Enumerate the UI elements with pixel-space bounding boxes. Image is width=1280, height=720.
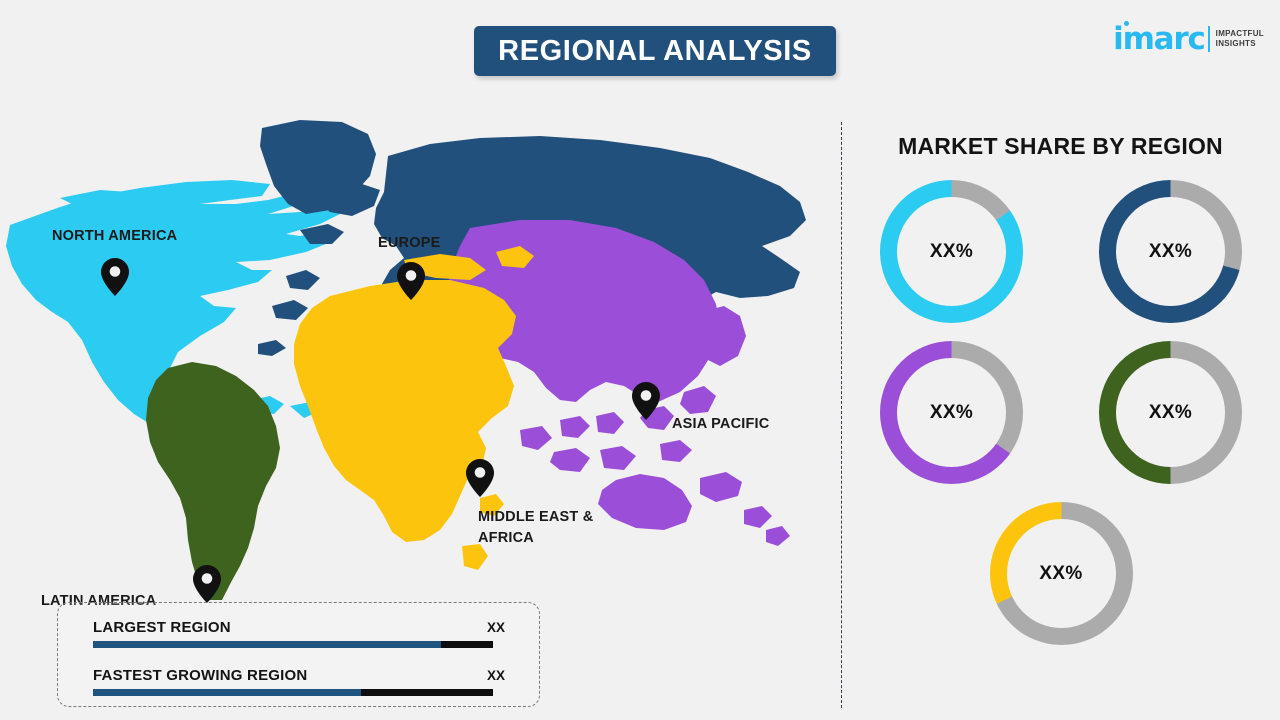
map-pin-europe-icon[interactable] [397, 262, 425, 300]
donut-center: XX% [1007, 519, 1116, 628]
donut-chart-grid: XX% XX% XX% XX% [860, 180, 1262, 645]
legend-value: XX [487, 668, 505, 683]
donut-chart-latin-america[interactable]: XX% [1099, 341, 1242, 484]
donut-center: XX% [897, 197, 1006, 306]
map-label-asia-pacific: ASIA PACIFIC [672, 414, 769, 435]
legend-row-fastest-growing-region: FASTEST GROWING REGION XX [93, 667, 505, 696]
donut-value-label: XX% [930, 241, 973, 263]
region-summary-box: LARGEST REGION XX FASTEST GROWING REGION… [57, 602, 540, 707]
map-label-europe: EUROPE [378, 233, 440, 254]
map-label-middle-east-africa: MIDDLE EAST & AFRICA [478, 507, 593, 549]
donut-chart-europe[interactable]: XX% [1099, 180, 1242, 323]
donut-chart-asia-pacific[interactable]: XX% [880, 341, 1023, 484]
donut-chart-middle-east-africa[interactable]: XX% [990, 502, 1133, 645]
page-title-banner: REGIONAL ANALYSIS [474, 26, 836, 76]
legend-progress-fill [93, 641, 441, 648]
logo-wordmark: imarc [1113, 21, 1205, 57]
logo-tagline: IMPACTFUL INSIGHTS [1216, 29, 1264, 49]
donut-value-label: XX% [930, 402, 973, 424]
panel-divider [841, 122, 842, 708]
legend-label: LARGEST REGION [93, 619, 231, 636]
donut-value-label: XX% [1149, 241, 1192, 263]
map-pin-north-america-icon[interactable] [101, 258, 129, 296]
legend-row-largest-region: LARGEST REGION XX [93, 619, 505, 648]
logo-dot-icon [1124, 21, 1129, 26]
donut-center: XX% [1116, 358, 1225, 467]
world-map-panel: NORTH AMERICA EUROPE ASIA PACIFIC MIDDLE… [0, 100, 830, 600]
page-title: REGIONAL ANALYSIS [498, 35, 812, 68]
donut-chart-north-america[interactable]: XX% [880, 180, 1023, 323]
charts-panel-title: MARKET SHARE BY REGION [888, 133, 1233, 160]
legend-progress-track [93, 641, 493, 648]
imarc-logo: imarc IMPACTFUL INSIGHTS [1113, 22, 1264, 56]
map-pin-latin-america-icon[interactable] [193, 565, 221, 603]
legend-progress-fill [93, 689, 361, 696]
donut-value-label: XX% [1149, 402, 1192, 424]
map-pin-middle-east-africa-icon[interactable] [466, 459, 494, 497]
legend-value: XX [487, 620, 505, 635]
logo-divider-bar [1208, 26, 1210, 52]
map-pin-asia-pacific-icon[interactable] [632, 382, 660, 420]
donut-value-label: XX% [1039, 563, 1082, 585]
logo-tagline-line1: IMPACTFUL [1216, 29, 1264, 39]
world-map [0, 100, 830, 600]
map-label-north-america: NORTH AMERICA [52, 226, 177, 247]
donut-center: XX% [897, 358, 1006, 467]
legend-label: FASTEST GROWING REGION [93, 667, 307, 684]
infographic-root: REGIONAL ANALYSIS imarc IMPACTFUL INSIGH… [0, 0, 1280, 720]
donut-center: XX% [1116, 197, 1225, 306]
logo-tagline-line2: INSIGHTS [1216, 39, 1264, 49]
legend-progress-track [93, 689, 493, 696]
